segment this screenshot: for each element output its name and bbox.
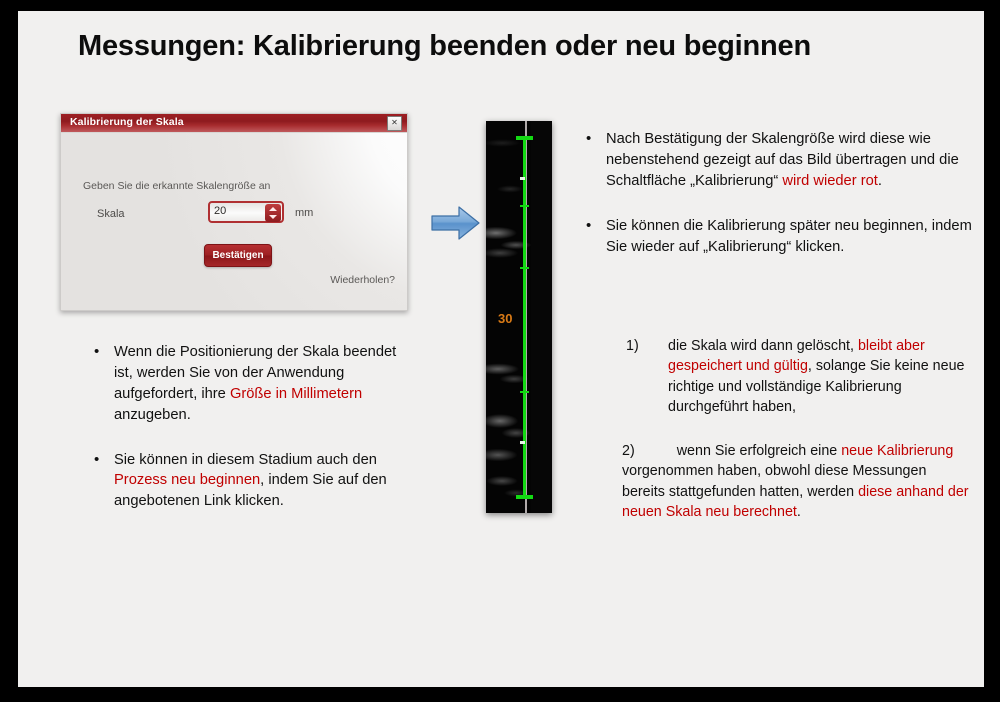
slide-canvas: Messungen: Kalibrierung beenden oder neu… (18, 11, 984, 687)
text-run: . (878, 173, 882, 189)
bullet-item: Wenn die Positionierung der Skala beende… (88, 342, 418, 426)
scale-tick (520, 177, 525, 180)
list-marker: 2) (622, 443, 635, 459)
scale-tick (520, 391, 529, 393)
slide-frame: Messungen: Kalibrierung beenden oder neu… (0, 0, 1000, 702)
chevron-up-icon[interactable] (269, 207, 277, 211)
scale-cap-bottom (516, 495, 533, 499)
text-run: wird wieder rot (782, 173, 878, 189)
dialog-titlebar: Kalibrierung der Skala ✕ (61, 114, 407, 133)
numbered-item: 1)die Skala wird dann gelöscht, bleibt a… (622, 336, 972, 417)
scale-line (523, 137, 526, 499)
arrow-right-icon (429, 203, 483, 243)
text-run: neue Kalibrierung (841, 443, 953, 459)
scale-tick (520, 205, 529, 207)
chevron-down-icon[interactable] (269, 215, 277, 219)
text-run: Größe in Millimetern (230, 386, 362, 402)
text-run: Sie können die Kalibrierung später neu b… (606, 218, 972, 255)
bullet-item: Sie können die Kalibrierung später neu b… (580, 216, 972, 258)
scale-field-label: Skala (97, 208, 125, 220)
left-bullet-list: Wenn die Positionierung der Skala beende… (88, 342, 418, 512)
calibration-dialog: Kalibrierung der Skala ✕ Geben Sie die e… (60, 113, 408, 311)
dialog-title: Kalibrierung der Skala (70, 116, 184, 128)
scale-value-label: 30 (498, 311, 512, 326)
repeat-link[interactable]: Wiederholen? (330, 274, 395, 286)
page-title: Messungen: Kalibrierung beenden oder neu… (78, 31, 928, 63)
ultrasound-image: 30 (486, 121, 552, 513)
confirm-button[interactable]: Bestätigen (204, 244, 272, 267)
bullet-item: Nach Bestätigung der Skalengröße wird di… (580, 129, 972, 192)
numbered-item: 2)wenn Sie erfolgreich eine neue Kalibri… (622, 441, 972, 522)
scale-tick (520, 267, 529, 269)
dialog-body: Geben Sie die erkannte Skalengröße an Sk… (61, 133, 407, 311)
unit-label: mm (295, 207, 313, 219)
close-icon[interactable]: ✕ (387, 116, 402, 131)
text-run: . (797, 504, 801, 520)
scale-input[interactable] (214, 205, 262, 217)
text-run: Sie können in diesem Stadium auch den (114, 452, 377, 468)
dialog-prompt-text: Geben Sie die erkannte Skalengröße an (83, 180, 270, 192)
text-run: Prozess neu beginnen (114, 472, 260, 488)
scale-cap-top (516, 136, 533, 140)
bullet-item: Sie können in diesem Stadium auch den Pr… (88, 450, 418, 513)
text-run: die Skala wird dann gelöscht, (668, 338, 858, 354)
scale-quantity-stepper[interactable] (208, 201, 284, 223)
list-marker: 1) (626, 336, 639, 356)
text-run: wenn Sie erfolgreich eine (677, 443, 842, 459)
scale-tick (520, 441, 525, 444)
text-run: anzugeben. (114, 407, 191, 423)
right-bullet-list: Nach Bestätigung der Skalengröße wird di… (580, 129, 972, 257)
spinner-buttons[interactable] (265, 204, 281, 222)
numbered-list: 1)die Skala wird dann gelöscht, bleibt a… (622, 336, 972, 522)
